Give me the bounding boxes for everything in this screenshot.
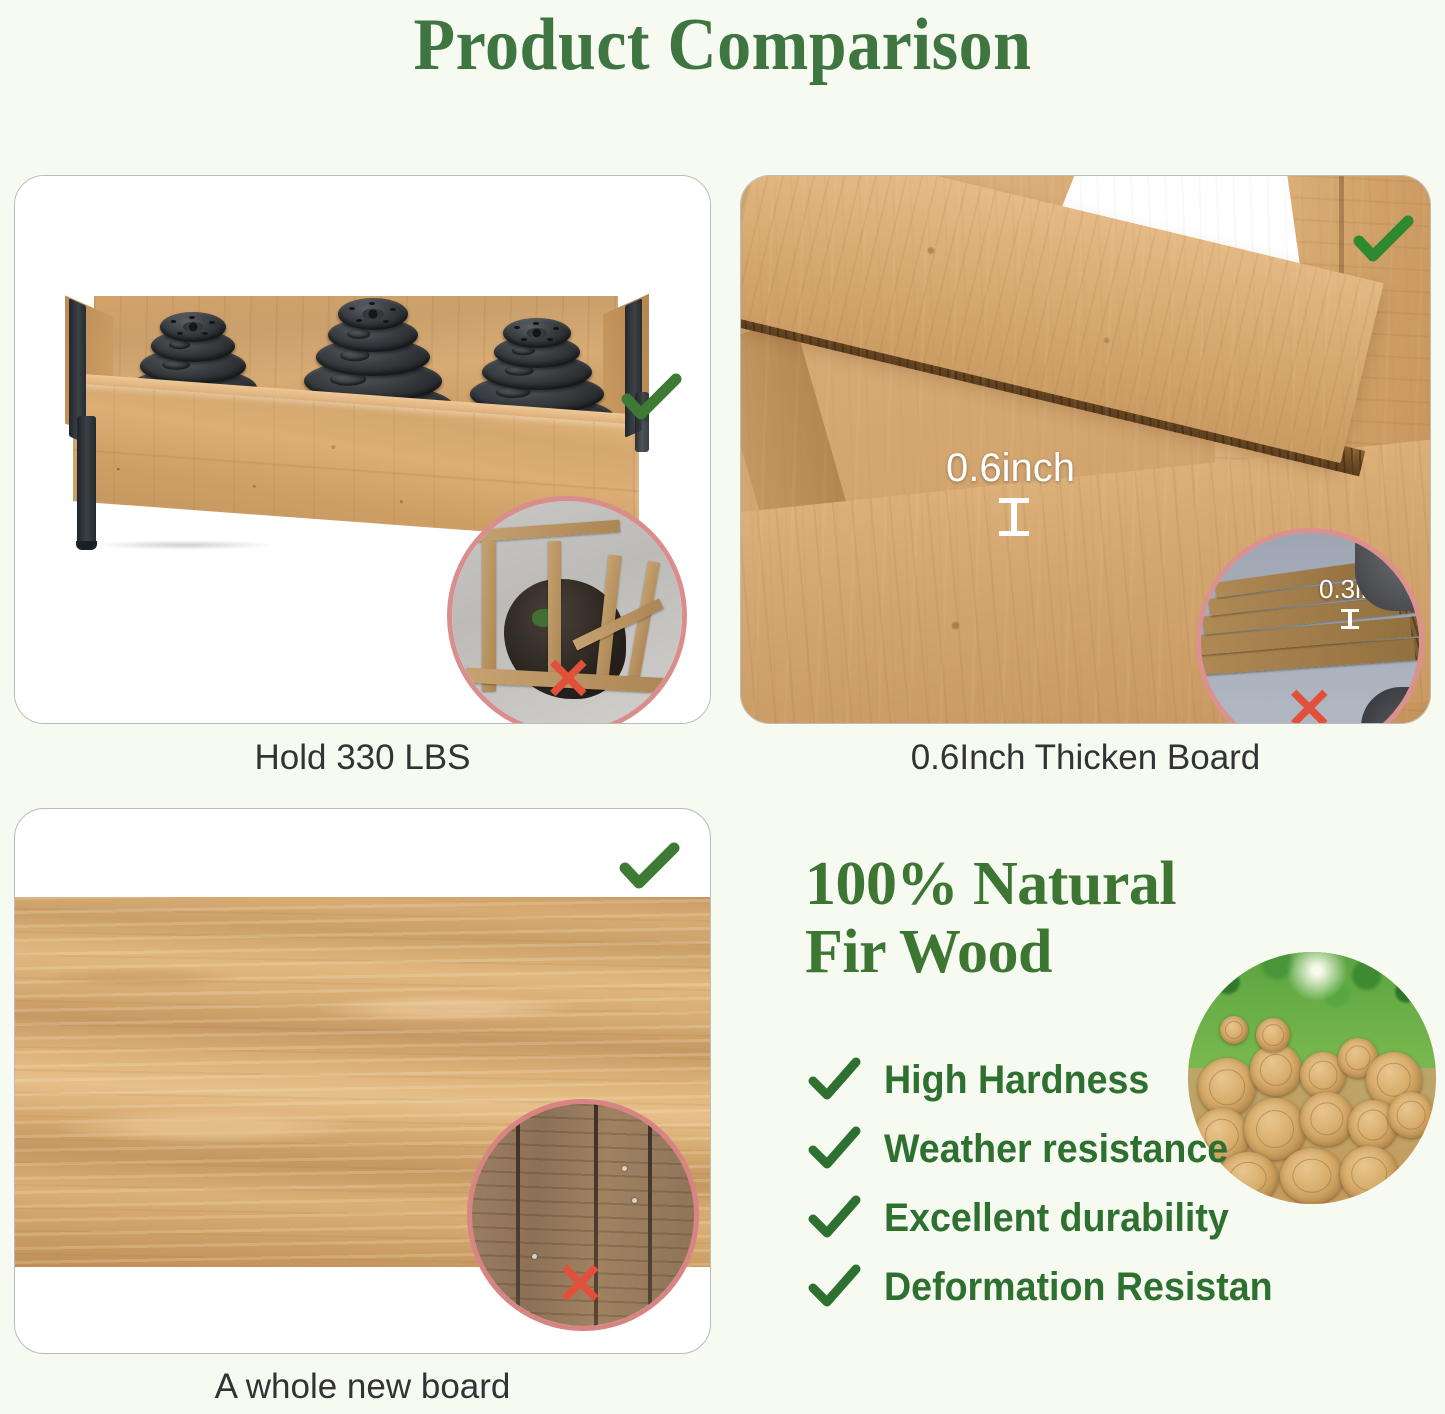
caption-hold-330-lbs: Hold 330 LBS [14,737,711,779]
inset-old-planks: ✕ [467,1099,699,1331]
weight-plate-top [503,318,571,348]
inset-thin-boards: 0.3in ✕ [1196,528,1424,724]
inset-collapsed-planter: ✕ [447,496,687,724]
check-icon [1353,214,1415,266]
check-icon [808,1195,862,1241]
feature-item: Excellent durability [808,1183,1328,1252]
feature-heading-line1: 100% Natural [805,850,1176,918]
feature-label: Excellent durability [884,1196,1229,1240]
weight-plate-top [160,312,226,342]
nail-head [632,1198,637,1203]
planter-leg-front [77,416,96,544]
caption-whole-new-board: A whole new board [14,1366,711,1408]
page-title: Product Comparison [58,2,1387,88]
feature-item: High Hardness [808,1045,1328,1114]
thick-board-photo: 0.6inch 0.3in ✕ [741,176,1430,723]
x-icon: ✕ [544,651,593,709]
feature-block: 100% Natural Fir Wood High Hardness [790,840,1445,1360]
feature-label: High Hardness [884,1058,1149,1102]
card-whole-new-board: ✕ [14,808,711,1354]
planter-shadow [95,540,275,550]
feature-list: High Hardness Weather resistance Excelle… [808,1045,1328,1321]
nail-head [622,1166,627,1171]
plank-gap [648,1104,652,1326]
log-end [1340,1146,1398,1202]
dimension-marker-thin [1341,609,1359,629]
feature-label: Deformation Resistan [884,1265,1273,1309]
dimension-label-thick: 0.6inch [946,446,1075,490]
plank-gap [516,1104,520,1326]
log-end [1388,1092,1434,1138]
nail-head [532,1254,537,1259]
x-icon: ✕ [1285,681,1334,724]
check-icon [621,372,683,424]
check-icon [619,841,681,893]
feature-item: Weather resistance [808,1114,1328,1183]
card-thicken-board: 0.6inch 0.3in ✕ [740,175,1431,724]
caption-thicken-board: 0.6Inch Thicken Board [740,737,1431,779]
check-icon [808,1264,862,1310]
check-icon [808,1126,862,1172]
feature-item: Deformation Resistan [808,1252,1328,1321]
planter-photo: ✕ [15,176,710,723]
log-end [1220,1016,1248,1044]
feature-label: Weather resistance [884,1127,1228,1171]
x-icon: ✕ [556,1256,605,1314]
weight-plate-top [338,298,408,330]
check-icon [808,1057,862,1103]
feature-heading-line2: Fir Wood [805,918,1052,986]
dimension-marker-thick [999,498,1029,536]
card-hold-330-lbs: ✕ [14,175,711,724]
